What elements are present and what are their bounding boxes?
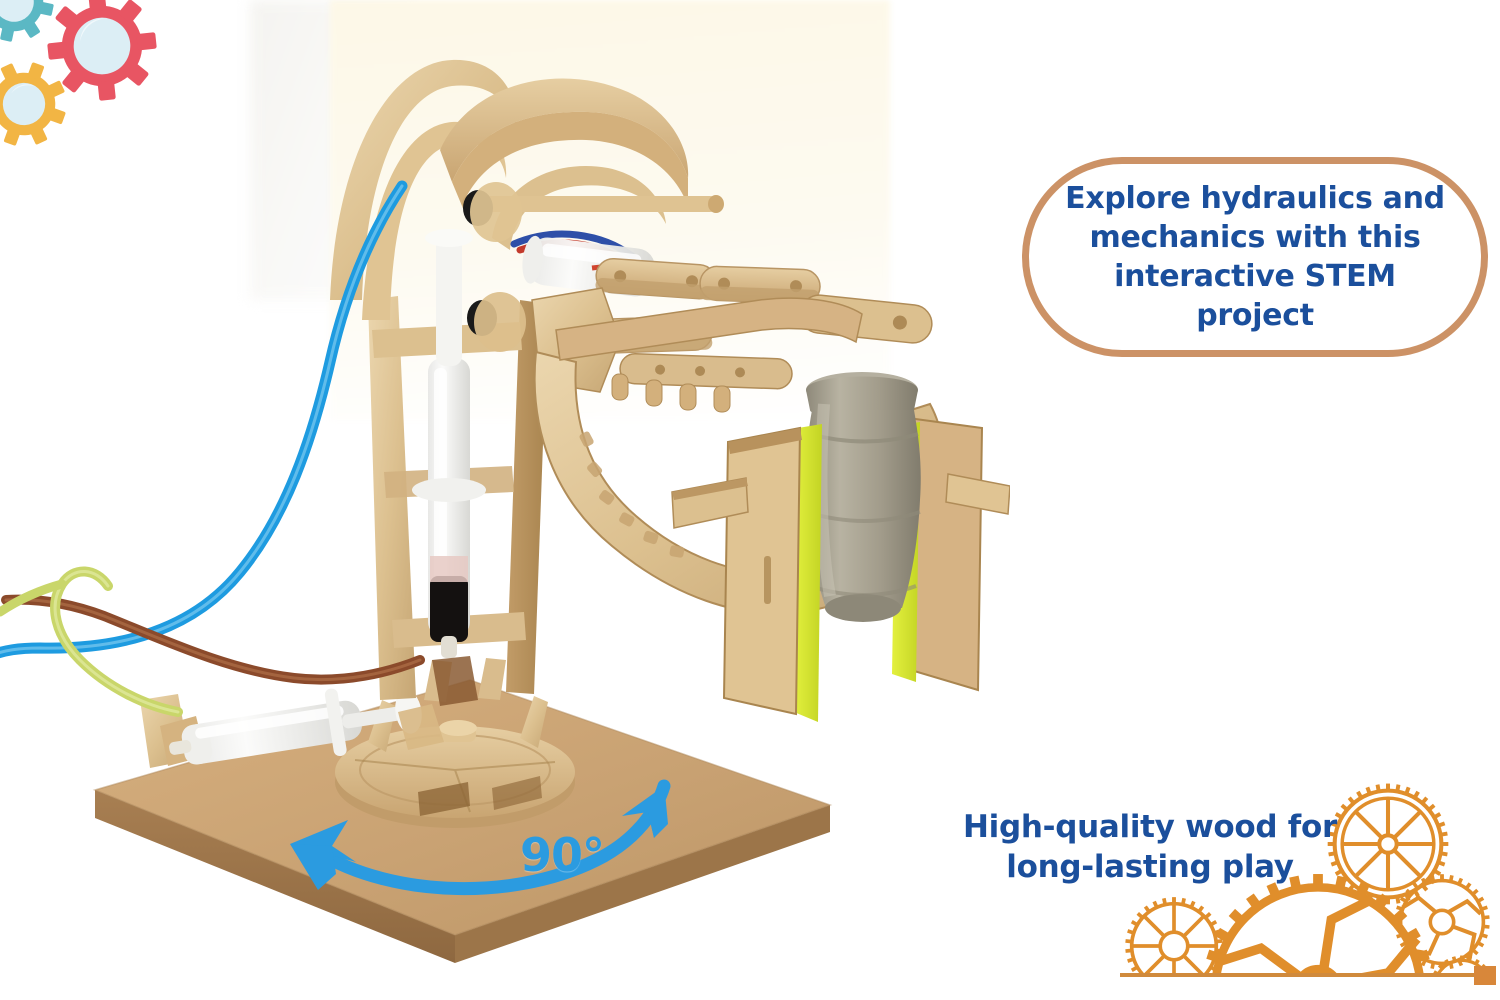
gripper-jaws [672, 372, 1010, 722]
baseline-end-square [1474, 966, 1496, 985]
callout-text: Explore hydraulics and mechanics with th… [1063, 179, 1447, 335]
hydraulic-tubing [0, 186, 420, 712]
feature-text: High-quality wood for long-lasting play [930, 808, 1370, 887]
callout-badge: Explore hydraulics and mechanics with th… [1022, 157, 1488, 357]
product-photo-hydraulic-robot-arm [0, 0, 1010, 1000]
marketing-image: 90° Explore hydraulics and mechanics wit… [0, 0, 1500, 1000]
rotation-angle-label: 90° [520, 828, 604, 882]
wooden-barrel-object [805, 372, 921, 622]
